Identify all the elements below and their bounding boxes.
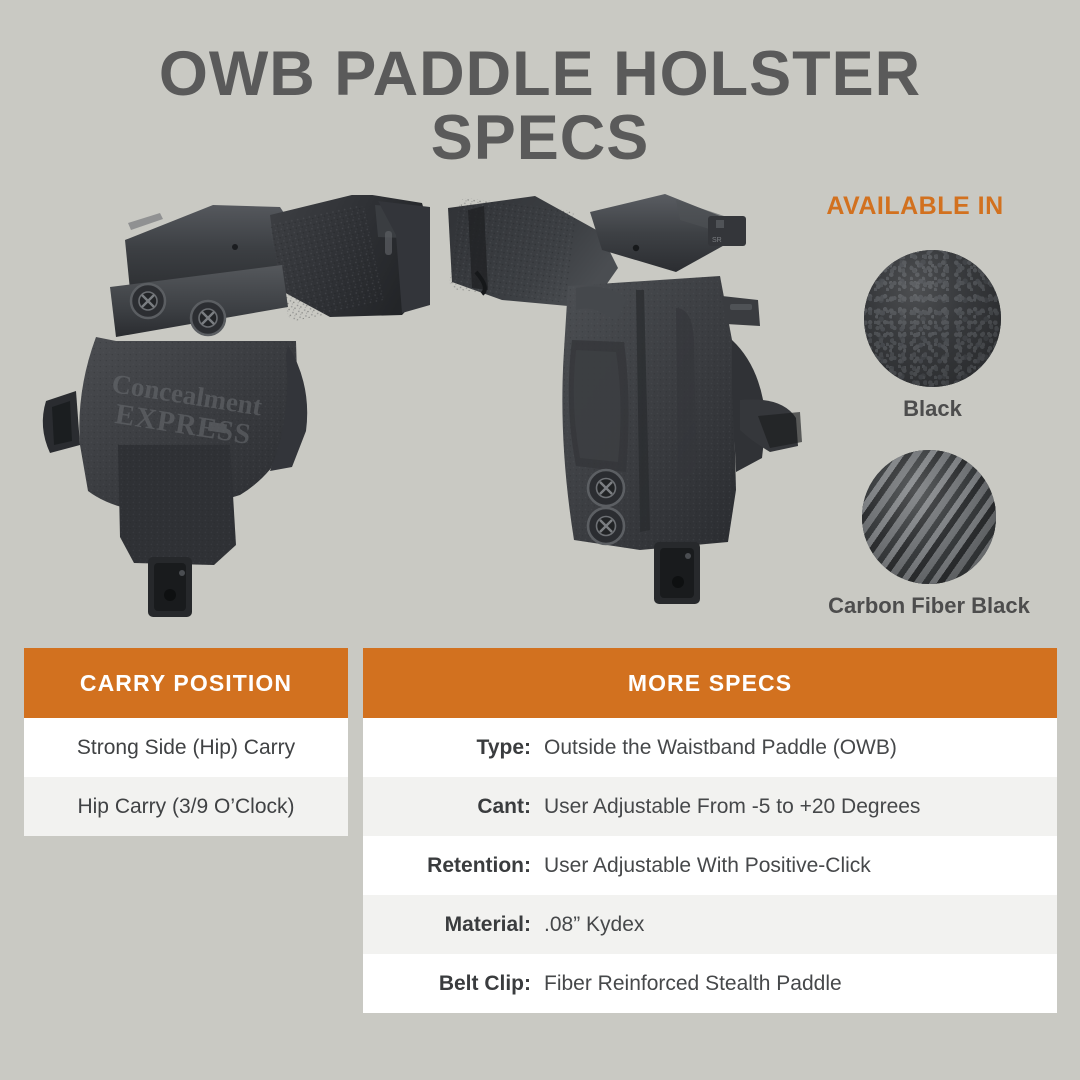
carry-position-value-2: Hip Carry (3/9 O’Clock)	[24, 795, 348, 819]
black-texture-swatch-icon	[864, 250, 1001, 387]
spec-row-retention: Retention: User Adjustable With Positive…	[363, 836, 1057, 895]
spec-value-retention: User Adjustable With Positive-Click	[539, 854, 1057, 878]
spec-label-belt-clip: Belt Clip:	[363, 972, 539, 996]
swatch-option-carbon-fiber[interactable]: Carbon Fiber Black	[862, 450, 1080, 619]
holster-front-view-image: Concealment EXPRESS	[30, 195, 430, 625]
carbon-fiber-swatch-icon	[862, 450, 996, 584]
spec-value-material: .08” Kydex	[539, 913, 1057, 937]
spec-label-type: Type:	[363, 736, 539, 760]
more-specs-header: MORE SPECS	[363, 648, 1057, 718]
spec-value-type: Outside the Waistband Paddle (OWB)	[539, 736, 1057, 760]
holster-rear-view-image: SR	[440, 190, 820, 630]
holster-shell-rear	[562, 276, 736, 550]
holster-shell-lower	[118, 445, 236, 617]
carry-position-table: CARRY POSITION Strong Side (Hip) Carry H…	[24, 648, 348, 836]
spec-row-material: Material: .08” Kydex	[363, 895, 1057, 954]
carry-position-header: CARRY POSITION	[24, 648, 348, 718]
spec-value-cant: User Adjustable From -5 to +20 Degrees	[539, 795, 1057, 819]
spec-label-material: Material:	[363, 913, 539, 937]
spec-row-type: Type: Outside the Waistband Paddle (OWB)	[363, 718, 1057, 777]
spec-label-retention: Retention:	[363, 854, 539, 878]
spec-row-cant: Cant: User Adjustable From -5 to +20 Deg…	[363, 777, 1057, 836]
belt-clip-tongue-rear	[654, 542, 700, 604]
swatch-label-black: Black	[864, 396, 1001, 422]
more-specs-table: MORE SPECS Type: Outside the Waistband P…	[363, 648, 1057, 1013]
spec-value-belt-clip: Fiber Reinforced Stealth Paddle	[539, 972, 1057, 996]
spec-row-belt-clip: Belt Clip: Fiber Reinforced Stealth Padd…	[363, 954, 1057, 1013]
carry-position-row-2: Hip Carry (3/9 O’Clock)	[24, 777, 348, 836]
swatch-option-black[interactable]: Black	[864, 250, 1001, 422]
carry-position-value-1: Strong Side (Hip) Carry	[24, 736, 348, 760]
spec-label-cant: Cant:	[363, 795, 539, 819]
carry-position-row-1: Strong Side (Hip) Carry	[24, 718, 348, 777]
svg-text:SR: SR	[712, 237, 722, 244]
page-title-line-2: SPECS	[0, 106, 1080, 170]
page-title: OWB PADDLE HOLSTER SPECS	[0, 42, 1080, 171]
page-title-line-1: OWB PADDLE HOLSTER	[0, 42, 1080, 106]
